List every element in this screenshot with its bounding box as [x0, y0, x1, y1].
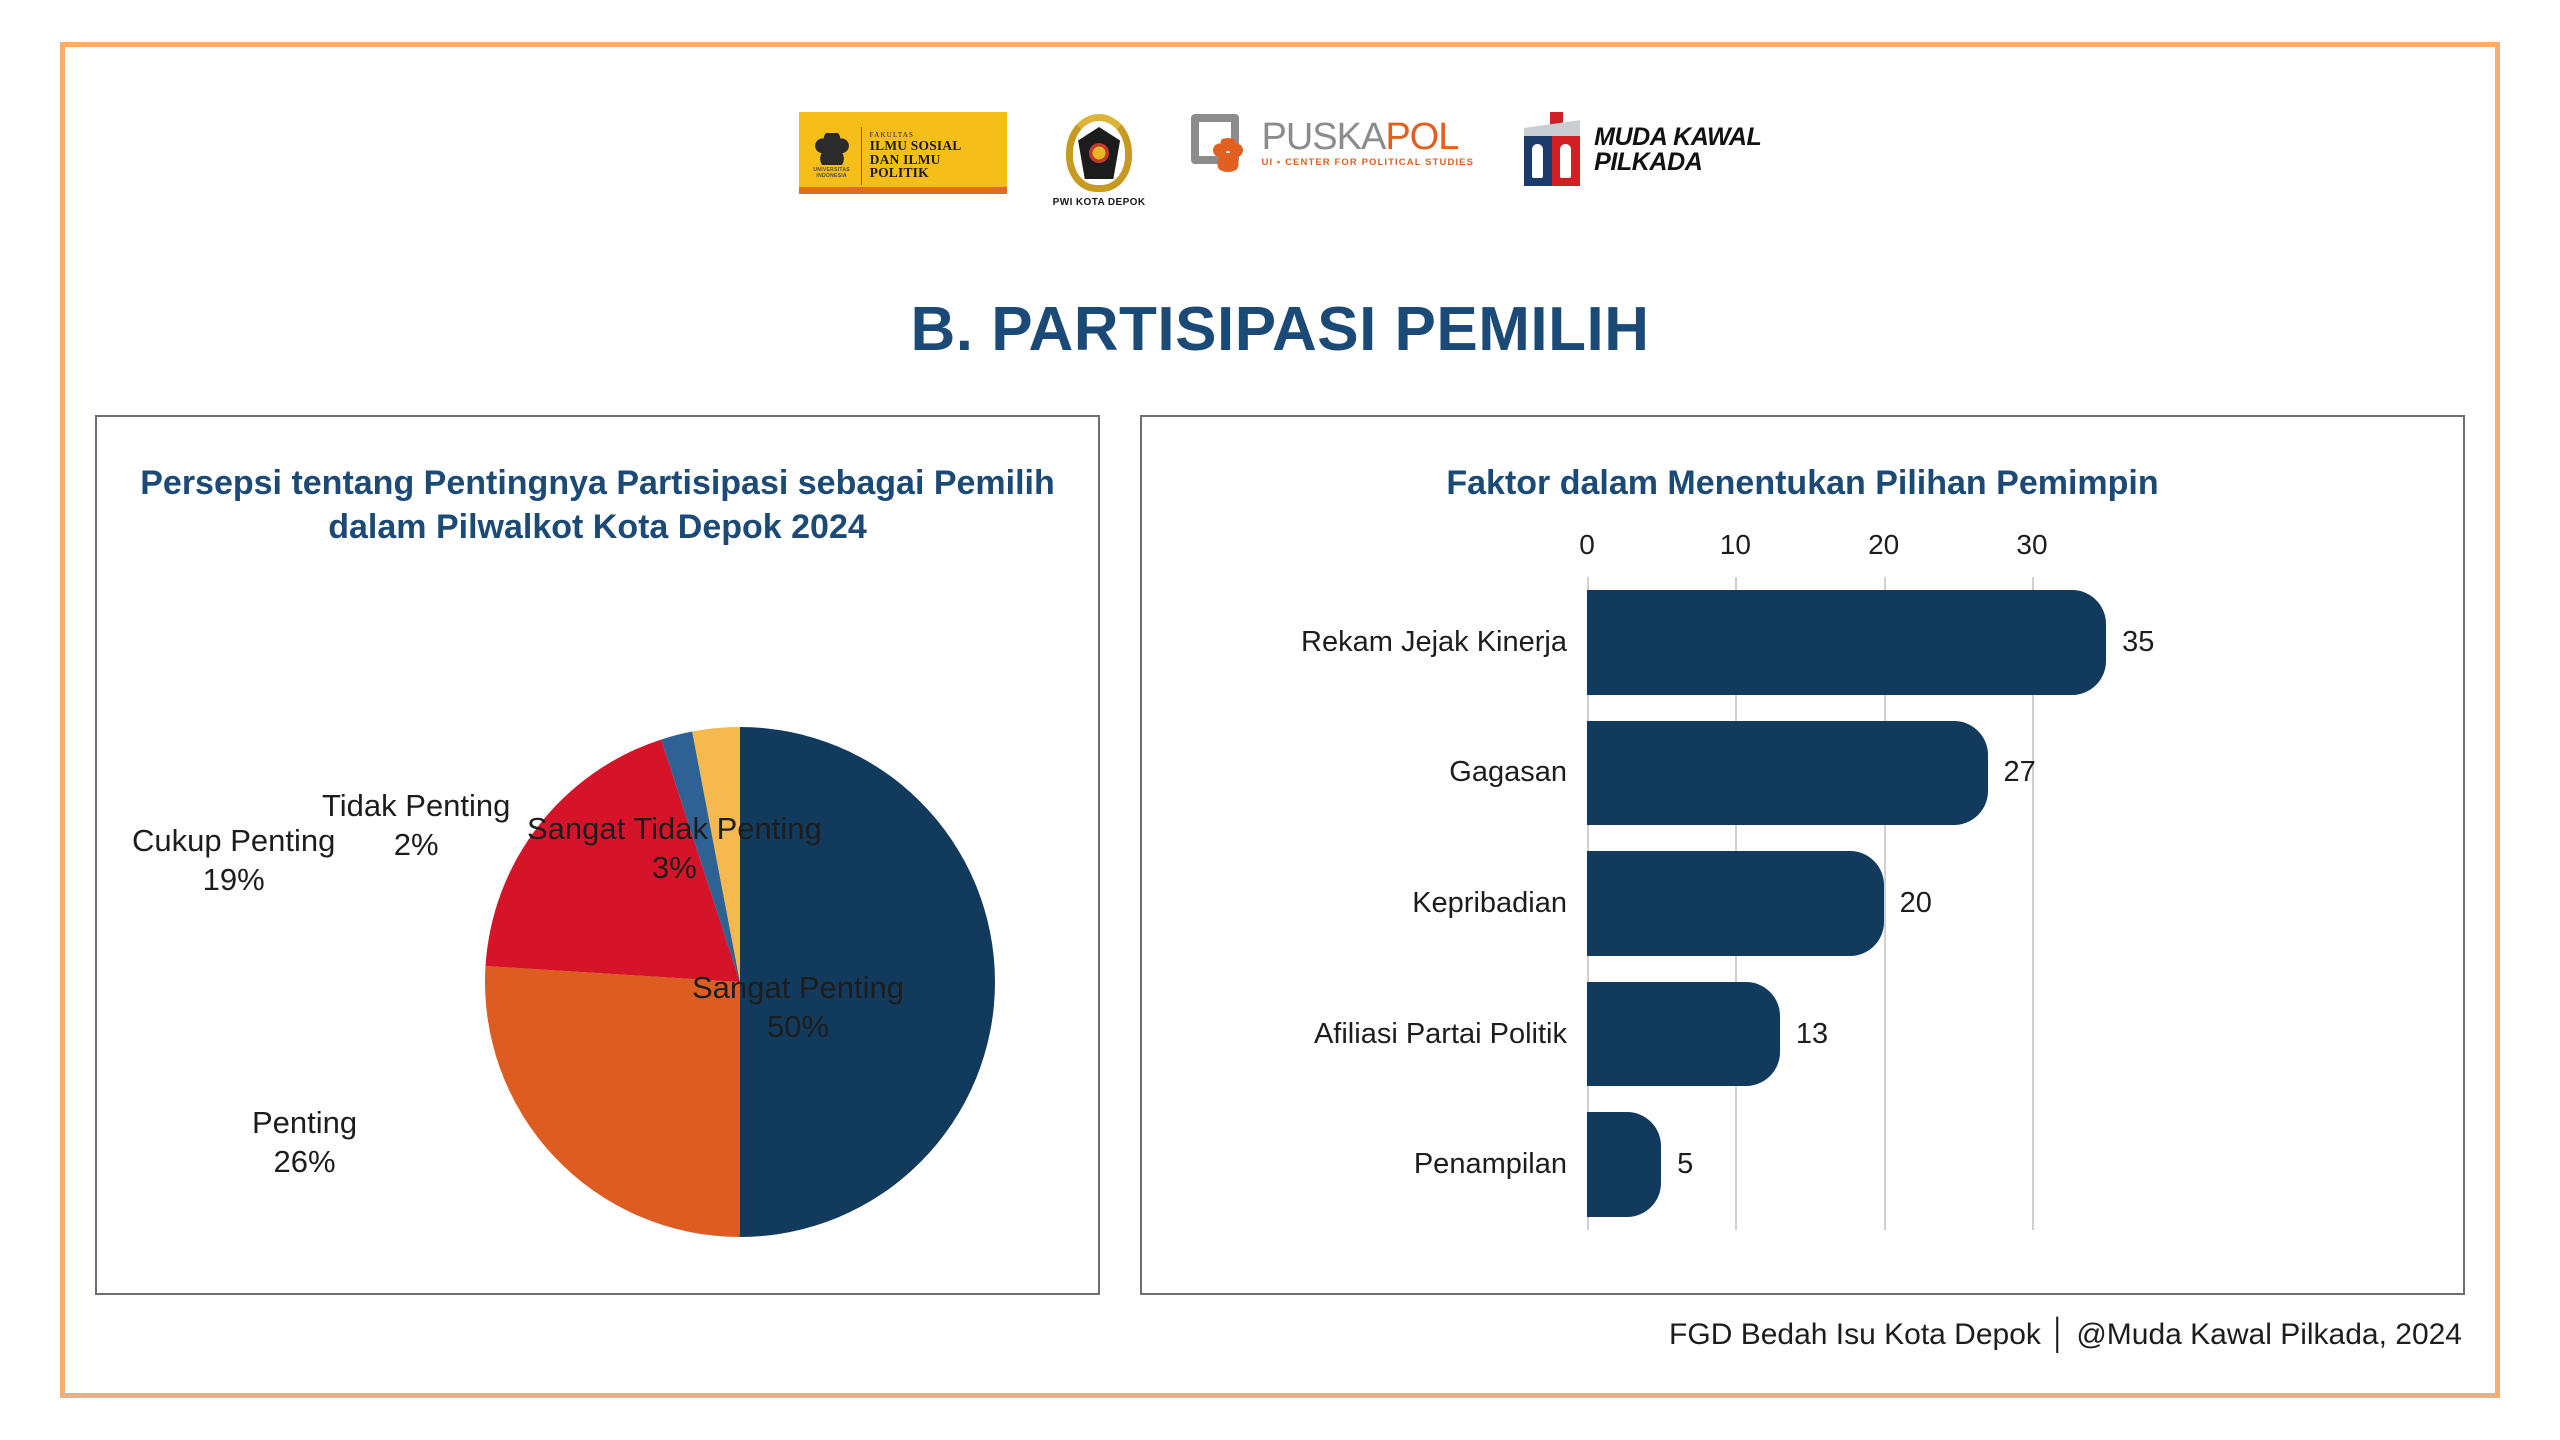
bar-rekam-jejak-kinerja[interactable]: [1587, 590, 2106, 694]
bar-value-label: 27: [2004, 756, 2036, 789]
footer-credit: FGD Bedah Isu Kota Depok │ @Muda Kawal P…: [1669, 1318, 2462, 1352]
bar-penampilan[interactable]: [1587, 1112, 1661, 1216]
fisip-line4: POLITIK: [870, 166, 962, 180]
puskapol-logo: PUSKAPOL UI • CENTER FOR POLITICAL STUDI…: [1191, 112, 1474, 176]
pwi-emblem-icon: [1060, 112, 1138, 194]
bar-row: Penampilan5: [1587, 1112, 2121, 1216]
bar-value-label: 35: [2122, 626, 2154, 659]
bar-category-label: Rekam Jejak Kinerja: [1301, 626, 1567, 659]
makara-ui-icon: UNIVERSITAS INDONESIA: [811, 125, 853, 187]
puskapol-tagline: UI • CENTER FOR POLITICAL STUDIES: [1261, 157, 1474, 168]
bar-plot-area: 0102030Rekam Jejak Kinerja35Gagasan27Kep…: [1587, 577, 2121, 1230]
pwi-caption: PWI KOTA DEPOK: [1053, 197, 1146, 208]
pie-label-value-4: 3%: [527, 849, 822, 888]
pie-label-sangat-tidak-penting: Sangat Tidak Penting 3%: [527, 810, 822, 888]
x-axis-tick-0: 0: [1579, 529, 1595, 561]
bar-row: Afiliasi Partai Politik13: [1587, 982, 2121, 1086]
pie-label-penting: Penting 26%: [252, 1104, 357, 1182]
puskapol-mark-icon: [1191, 112, 1253, 176]
mkp-line1: MUDA KAWAL: [1594, 125, 1761, 150]
fisip-line3: DAN ILMU: [870, 153, 962, 167]
bar-gagasan[interactable]: [1587, 721, 1988, 825]
bar-value-label: 13: [1796, 1018, 1828, 1051]
bar-category-label: Kepribadian: [1412, 887, 1567, 920]
pie-label-value-1: 26%: [252, 1143, 357, 1182]
page-title: B. PARTISIPASI PEMILIH: [0, 294, 2560, 365]
pie-label-text-2: Cukup Penting: [132, 823, 335, 858]
x-axis-tick-10: 10: [1720, 529, 1751, 561]
pie-label-text-0: Sangat Penting: [692, 970, 904, 1005]
bar-value-label: 20: [1900, 887, 1932, 920]
x-axis-tick-20: 20: [1868, 529, 1899, 561]
fisip-line2: ILMU SOSIAL: [870, 139, 962, 153]
bar-row: Gagasan27: [1587, 721, 2121, 825]
ballot-box-icon: [1520, 112, 1584, 188]
pie-label-value-2: 19%: [132, 861, 335, 900]
pie-chart: Sangat Tidak Penting 3% Tidak Penting 2%…: [97, 417, 1098, 1293]
fisip-underbar: [799, 187, 1007, 194]
pie-label-text-1: Penting: [252, 1105, 357, 1140]
pie-label-tidak-penting: Tidak Penting 2%: [322, 787, 510, 865]
fisip-divider: [861, 127, 862, 185]
bar-category-label: Penampilan: [1414, 1148, 1567, 1181]
bar-row: Rekam Jejak Kinerja35: [1587, 590, 2121, 694]
pie-label-sangat-penting: Sangat Penting 50%: [692, 969, 904, 1047]
bar-row: Kepribadian20: [1587, 851, 2121, 955]
bar-chart-panel: Faktor dalam Menentukan Pilihan Pemimpin…: [1140, 415, 2465, 1295]
bar-category-label: Afiliasi Partai Politik: [1314, 1018, 1567, 1051]
mkp-line2: PILKADA: [1594, 150, 1761, 175]
pie-label-value-3: 2%: [322, 826, 510, 865]
bar-kepribadian[interactable]: [1587, 851, 1884, 955]
logo-strip: UNIVERSITAS INDONESIA FAKULTAS ILMU SOSI…: [0, 112, 2560, 224]
pwi-kota-depok-logo: PWI KOTA DEPOK: [1053, 112, 1146, 208]
bar-chart: 0102030Rekam Jejak Kinerja35Gagasan27Kep…: [1142, 417, 2463, 1293]
fisip-ui-logo: UNIVERSITAS INDONESIA FAKULTAS ILMU SOSI…: [799, 112, 1007, 194]
pie-label-text-3: Tidak Penting: [322, 788, 510, 823]
puskapol-word1: PUSKA: [1261, 116, 1385, 158]
muda-kawal-pilkada-logo: MUDA KAWAL PILKADA: [1520, 112, 1761, 188]
bar-value-label: 5: [1677, 1148, 1693, 1181]
puskapol-word2: POL: [1385, 116, 1458, 158]
bar-category-label: Gagasan: [1449, 756, 1567, 789]
pie-label-text-4: Sangat Tidak Penting: [527, 811, 822, 846]
pie-chart-panel: Persepsi tentang Pentingnya Partisipasi …: [95, 415, 1100, 1295]
pie-label-cukup-penting: Cukup Penting 19%: [132, 822, 335, 900]
bar-afiliasi-partai-politik[interactable]: [1587, 982, 1780, 1086]
slide-root: UNIVERSITAS INDONESIA FAKULTAS ILMU SOSI…: [0, 0, 2560, 1440]
pie-label-value-0: 50%: [692, 1008, 904, 1047]
fisip-mark-text: UNIVERSITAS INDONESIA: [811, 167, 853, 180]
x-axis-tick-30: 30: [2016, 529, 2047, 561]
